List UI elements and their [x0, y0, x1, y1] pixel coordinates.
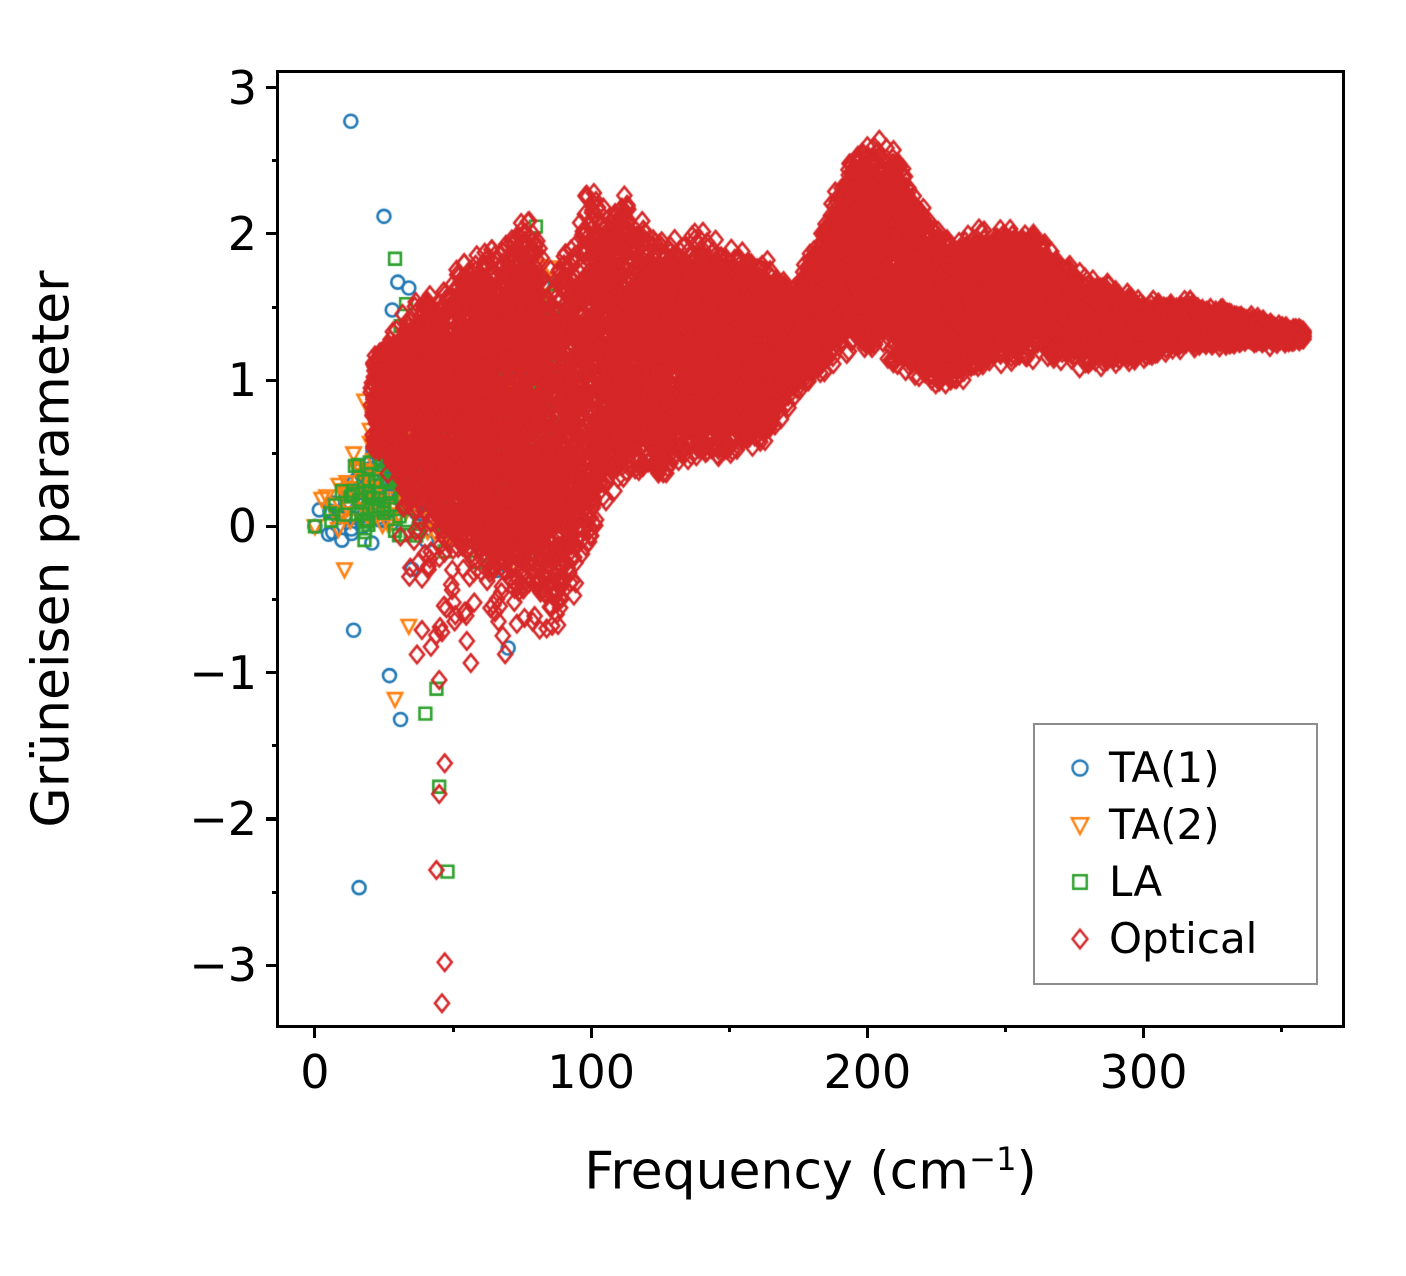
diamond-marker-icon: [1051, 922, 1109, 956]
square-marker-icon: [1051, 865, 1109, 899]
legend-label-1: TA(2): [1109, 800, 1220, 849]
triangle-down-marker-icon: [1051, 808, 1109, 842]
x-minor-tick: [452, 1025, 455, 1032]
legend-box[interactable]: TA(1)TA(2)LAOptical: [1033, 723, 1318, 985]
y-tick-6: [266, 86, 279, 89]
x-tick-label-1: 100: [547, 1045, 635, 1099]
circle-marker-icon: [1051, 751, 1109, 785]
legend-item-ta-2-[interactable]: TA(2): [1051, 796, 1300, 853]
y-tick-1: [266, 817, 279, 820]
y-tick-label-3: 0: [228, 499, 257, 553]
y-tick-0: [266, 964, 279, 967]
x-minor-tick: [1280, 1025, 1283, 1032]
x-axis-title: Frequency (cm−1): [276, 1140, 1345, 1201]
y-tick-label-2: −1: [189, 646, 257, 700]
x-tick-label-2: 200: [823, 1045, 911, 1099]
figure-canvas: Grüneisen parameter −3−2−101230100200300…: [0, 0, 1406, 1276]
y-tick-5: [266, 232, 279, 235]
x-tick-label-0: 0: [300, 1045, 329, 1099]
y-minor-tick: [272, 159, 279, 162]
y-minor-tick: [272, 452, 279, 455]
x-axis-title-exponent: −1: [969, 1140, 1017, 1178]
x-tick-1: [590, 1025, 593, 1038]
x-minor-tick: [1004, 1025, 1007, 1032]
x-tick-2: [866, 1025, 869, 1038]
x-axis-title-text: Frequency (cm: [584, 1141, 969, 1201]
y-axis-title-text: Grüneisen parameter: [22, 270, 82, 827]
y-minor-tick: [272, 744, 279, 747]
x-tick-3: [1142, 1025, 1145, 1038]
y-tick-label-6: 3: [228, 61, 257, 115]
legend-item-la[interactable]: LA: [1051, 853, 1300, 910]
x-axis-title-close: ): [1016, 1141, 1036, 1201]
y-tick-2: [266, 671, 279, 674]
y-tick-4: [266, 379, 279, 382]
legend-label-2: LA: [1109, 857, 1162, 906]
y-minor-tick: [272, 598, 279, 601]
legend-item-ta-1-[interactable]: TA(1): [1051, 739, 1300, 796]
y-tick-label-0: −3: [189, 938, 257, 992]
y-minor-tick: [272, 306, 279, 309]
y-axis-title: Grüneisen parameter: [22, 70, 82, 1028]
x-tick-label-3: 300: [1100, 1045, 1188, 1099]
y-tick-label-5: 2: [228, 207, 257, 261]
y-tick-label-1: −2: [189, 792, 257, 846]
legend-label-0: TA(1): [1109, 743, 1220, 792]
y-tick-3: [266, 525, 279, 528]
x-minor-tick: [728, 1025, 731, 1032]
legend-item-optical[interactable]: Optical: [1051, 910, 1300, 967]
x-tick-0: [313, 1025, 316, 1038]
y-minor-tick: [272, 891, 279, 894]
y-tick-label-4: 1: [228, 353, 257, 407]
legend-label-3: Optical: [1109, 914, 1257, 963]
